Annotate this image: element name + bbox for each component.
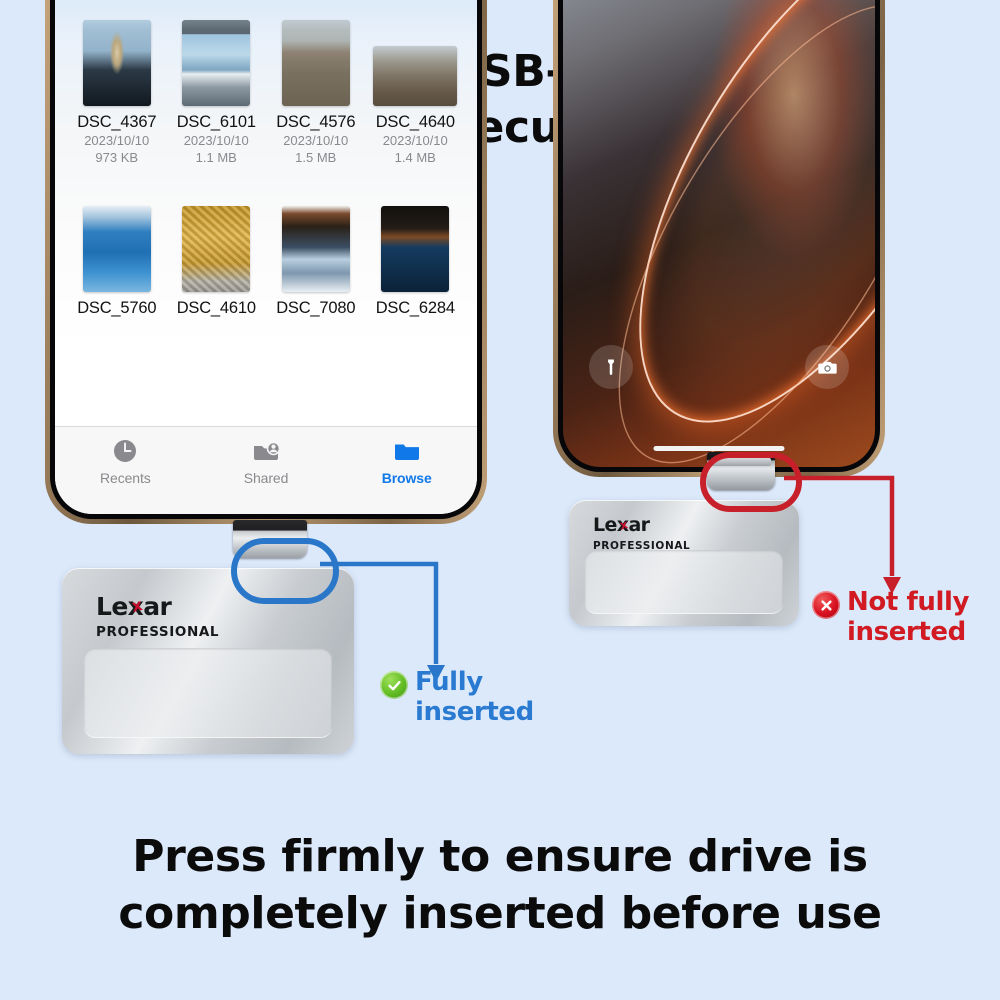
file-thumbnail[interactable] bbox=[381, 206, 449, 292]
file-item[interactable]: DSC_6101 2023/10/10 1.1 MB bbox=[169, 16, 265, 167]
file-size: 1.5 MB bbox=[295, 149, 336, 166]
file-size: 973 KB bbox=[95, 149, 138, 166]
lock-screen-wallpaper bbox=[563, 0, 875, 467]
usb-c-plug-body bbox=[707, 452, 775, 490]
home-indicator[interactable] bbox=[653, 446, 784, 451]
tab-shared[interactable]: Shared bbox=[196, 436, 337, 486]
file-date: 2023/10/10 bbox=[84, 132, 149, 149]
file-grid-clipped-bottom: DSC_5760 DSC_4610 DSC_7080 DSC_6284 bbox=[55, 202, 477, 318]
files-app-screen: 2023/10/10 973 KB 2023/10/10 1.1 MB bbox=[55, 0, 477, 514]
wallpaper-lens-inner bbox=[563, 0, 875, 467]
shared-folder-icon bbox=[251, 436, 281, 466]
file-size: 1.5 MB bbox=[283, 0, 348, 4]
file-size: 1.1 MB bbox=[383, 0, 448, 4]
annotation-line-1: Fully bbox=[415, 667, 483, 697]
file-thumbnail[interactable] bbox=[83, 206, 151, 292]
promo-canvas: Customized USB-C connector for a secure … bbox=[0, 0, 1000, 1000]
tab-recents[interactable]: Recents bbox=[55, 436, 196, 486]
annotation-text: Fully inserted bbox=[415, 668, 534, 728]
file-name: DSC_4640 bbox=[376, 113, 455, 132]
phone-right-not-fully-inserted bbox=[553, 0, 885, 477]
file-name: DSC_4367 bbox=[77, 113, 156, 132]
file-date: 2023/10/10 bbox=[283, 132, 348, 149]
file-item[interactable]: DSC_7080 bbox=[268, 202, 364, 318]
phone-right-bezel bbox=[558, 0, 880, 472]
phone-left-screen: 2023/10/10 973 KB 2023/10/10 1.1 MB bbox=[55, 0, 477, 514]
ssd-inset-panel bbox=[585, 550, 783, 614]
tab-label: Recents bbox=[100, 470, 151, 486]
x-circle-icon bbox=[812, 591, 840, 619]
ssd-left: Lexar x PROFESSIONAL bbox=[62, 568, 354, 754]
check-circle-icon bbox=[380, 671, 408, 699]
file-date: 2023/10/10 bbox=[383, 132, 448, 149]
file-name: DSC_4610 bbox=[177, 299, 256, 318]
annotation-not-fully-inserted: Not fully inserted bbox=[812, 588, 969, 648]
file-item[interactable]: DSC_5760 bbox=[69, 202, 165, 318]
file-meta: 2023/10/10 1.1 MB bbox=[184, 0, 249, 10]
file-meta: 2023/10/10 1.5 MB bbox=[283, 0, 348, 10]
flashlight-button[interactable] bbox=[589, 345, 633, 389]
phone-right-screen bbox=[563, 0, 875, 467]
file-date: 2023/10/10 bbox=[184, 132, 249, 149]
flashlight-icon bbox=[601, 357, 621, 377]
lexar-logo-left: Lexar x PROFESSIONAL bbox=[96, 594, 219, 640]
tab-label: Browse bbox=[382, 470, 432, 486]
caption-line-1: Press firmly to ensure drive is bbox=[132, 831, 867, 882]
brand-subtitle: PROFESSIONAL bbox=[593, 540, 690, 552]
ssd-inset-panel bbox=[84, 648, 332, 738]
file-cell-clipped: 2023/10/10 973 KB bbox=[69, 0, 165, 10]
file-cell-clipped: 2023/10/10 1.1 MB bbox=[169, 0, 265, 10]
annotation-line-2: inserted bbox=[415, 698, 534, 728]
usb-c-plug-gap bbox=[711, 458, 771, 466]
lexar-logo-right: Lexar x PROFESSIONAL bbox=[593, 516, 690, 552]
tab-browse[interactable]: Browse bbox=[336, 436, 477, 486]
file-grid-main: DSC_4367 2023/10/10 973 KB DSC_6101 2023… bbox=[55, 16, 477, 167]
files-tab-bar: Recents Shared bbox=[55, 426, 477, 514]
brand-subtitle: PROFESSIONAL bbox=[96, 624, 219, 640]
annotation-fully-inserted: Fully inserted bbox=[380, 668, 534, 728]
brand-name: Lexar x bbox=[96, 594, 171, 619]
usb-c-plug-body bbox=[233, 520, 307, 558]
file-thumbnail[interactable] bbox=[182, 20, 250, 106]
file-size: 1.1 MB bbox=[184, 0, 249, 4]
file-item[interactable]: DSC_4610 bbox=[169, 202, 265, 318]
file-meta: 2023/10/10 973 KB bbox=[84, 0, 149, 10]
file-name: DSC_6101 bbox=[177, 113, 256, 132]
file-size: 1.4 MB bbox=[395, 149, 436, 166]
folder-icon bbox=[392, 436, 422, 466]
phone-left-fully-inserted: 2023/10/10 973 KB 2023/10/10 1.1 MB bbox=[45, 0, 487, 524]
file-name: DSC_4576 bbox=[276, 113, 355, 132]
camera-button[interactable] bbox=[805, 345, 849, 389]
caption-line-2: completely inserted before use bbox=[0, 885, 1000, 942]
file-item[interactable]: DSC_6284 bbox=[368, 202, 464, 318]
file-item[interactable]: DSC_4640 2023/10/10 1.4 MB bbox=[368, 16, 464, 167]
file-size: 1.1 MB bbox=[196, 149, 237, 166]
file-item[interactable]: DSC_4576 2023/10/10 1.5 MB bbox=[268, 16, 364, 167]
file-cell-clipped: 2023/10/10 1.5 MB bbox=[268, 0, 364, 10]
file-meta: 2023/10/10 1.1 MB bbox=[383, 0, 448, 10]
file-grid-clipped-top: 2023/10/10 973 KB 2023/10/10 1.1 MB bbox=[55, 0, 477, 10]
brand-name: Lexar x bbox=[593, 516, 649, 535]
ssd-right: Lexar x PROFESSIONAL bbox=[569, 500, 799, 626]
file-cell-clipped: 2023/10/10 1.1 MB bbox=[368, 0, 464, 10]
file-thumbnail[interactable] bbox=[182, 206, 250, 292]
file-thumbnail[interactable] bbox=[373, 46, 457, 106]
phone-left-bezel: 2023/10/10 973 KB 2023/10/10 1.1 MB bbox=[50, 0, 482, 519]
file-name: DSC_5760 bbox=[77, 299, 156, 318]
annotation-line-2: inserted bbox=[847, 618, 969, 648]
file-thumbnail[interactable] bbox=[282, 206, 350, 292]
file-size: 973 KB bbox=[84, 0, 149, 4]
file-thumbnail[interactable] bbox=[83, 20, 151, 106]
annotation-line-1: Not fully bbox=[847, 587, 969, 617]
leader-line-not-fully-inserted bbox=[782, 470, 914, 600]
clock-icon bbox=[110, 436, 140, 466]
camera-icon bbox=[817, 357, 838, 378]
usb-c-plug-left bbox=[233, 520, 307, 558]
file-item[interactable]: DSC_4367 2023/10/10 973 KB bbox=[69, 16, 165, 167]
tab-label: Shared bbox=[244, 470, 289, 486]
annotation-text: Not fully inserted bbox=[847, 588, 969, 648]
usb-c-plug-right bbox=[707, 452, 775, 490]
page-caption: Press firmly to ensure drive is complete… bbox=[0, 828, 1000, 942]
file-name: DSC_7080 bbox=[276, 299, 355, 318]
file-thumbnail[interactable] bbox=[282, 20, 350, 106]
file-name: DSC_6284 bbox=[376, 299, 455, 318]
